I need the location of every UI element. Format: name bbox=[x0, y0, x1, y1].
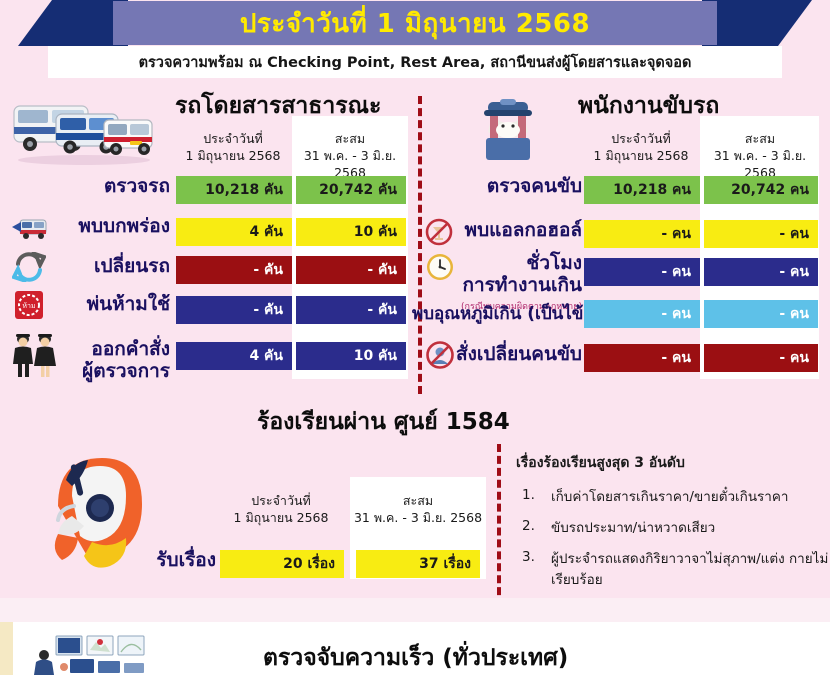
complaint-item-0-text: เก็บค่าโดยสารเกินราคา/ขายตั๋วเกินราคา bbox=[551, 487, 826, 508]
complaint-item-1-text: ขับรถประมาท/น่าหวาดเสียว bbox=[551, 518, 826, 539]
vertical-divider-complaint bbox=[497, 444, 501, 619]
banner-title: ประจำวันที่ 1 มิถุนายน 2568 bbox=[240, 3, 590, 44]
complaint-item-1-number: 2. bbox=[522, 518, 535, 534]
bus-col2-header: สะสม 31 พ.ค. - 3 มิ.ย. 2568 bbox=[290, 130, 410, 181]
bus-driver-icon bbox=[470, 96, 546, 166]
complaint-col1-header: ประจำวันที่ 1 มิถุนายน 2568 bbox=[218, 492, 344, 526]
bottom-left-accent-bar bbox=[0, 622, 13, 675]
driver-col1-header: ประจำวันที่ 1 มิถุนายน 2568 bbox=[582, 130, 700, 164]
top-complaints-title: เรื่องร้องเรียนสูงสุด 3 อันดับ bbox=[516, 452, 685, 474]
top-banner: ประจำวันที่ 1 มิถุนายน 2568 bbox=[0, 0, 830, 46]
bus-section-heading: รถโดยสารสาธารณะ bbox=[175, 88, 381, 124]
driver-row-label-1: พบแอลกอฮอล์ bbox=[430, 220, 582, 241]
driver-row-1-cumulative: - คน bbox=[704, 220, 818, 248]
bus-row-2-daily: - คัน bbox=[176, 256, 292, 284]
driver-row-label-3: พบอุณหภูมิเกิน (เป็นไข้) bbox=[412, 304, 582, 325]
monitoring-screens-icon bbox=[30, 630, 158, 675]
bus-row-3-daily: - คัน bbox=[176, 296, 292, 324]
speed-section-heading: ตรวจจับความเร็ว (ทั่วประเทศ) bbox=[263, 640, 568, 675]
complaint-cumulative: 37 เรื่อง bbox=[356, 550, 480, 578]
driver-row-4-daily: - คน bbox=[584, 344, 700, 372]
complaint-daily: 20 เรื่อง bbox=[220, 550, 344, 578]
driver-section-heading: พนักงานขับรถ bbox=[578, 88, 719, 124]
driver-row-0-cumulative: 20,742 คน bbox=[704, 176, 818, 204]
banner-right-wedge bbox=[702, 0, 812, 46]
bottom-pink-band bbox=[0, 598, 830, 622]
bus-row-4-cumulative: 10 คัน bbox=[296, 342, 406, 370]
driver-row-4-cumulative: - คน bbox=[704, 344, 818, 372]
driver-col2-header: สะสม 31 พ.ค. - 3 มิ.ย. 2568 bbox=[700, 130, 820, 181]
driver-row-2-cumulative: - คน bbox=[704, 258, 818, 286]
subtitle-text: ตรวจความพร้อม ณ Checking Point, Rest Are… bbox=[139, 51, 692, 74]
bus-row-label-2: เปลี่ยนรถ bbox=[20, 256, 170, 277]
driver-row-0-daily: 10,218 คน bbox=[584, 176, 700, 204]
bus-row-1-cumulative: 10 คัน bbox=[296, 218, 406, 246]
bus-cluster-icon bbox=[8, 96, 160, 166]
complaint-item-2-text: ผู้ประจำรถแสดงกิริยาวาจาไม่สุภาพ/แต่ง กา… bbox=[551, 549, 830, 591]
complaint-item-0-number: 1. bbox=[522, 487, 535, 503]
complaint-section-heading: ร้องเรียนผ่าน ศูนย์ 1584 bbox=[257, 404, 510, 440]
bus-row-0-cumulative: 20,742 คัน bbox=[296, 176, 406, 204]
bus-col1-header: ประจำวันที่ 1 มิถุนายน 2568 bbox=[174, 130, 292, 164]
driver-row-3-daily: - คน bbox=[584, 300, 700, 328]
complaint-col2-header: สะสม 31 พ.ค. - 3 มิ.ย. 2568 bbox=[352, 492, 484, 526]
banner-center-bar: ประจำวันที่ 1 มิถุนายน 2568 bbox=[113, 1, 717, 45]
vertical-divider-main bbox=[418, 96, 422, 394]
complaint-item-2-number: 3. bbox=[522, 549, 535, 565]
bus-row-2-cumulative: - คัน bbox=[296, 256, 406, 284]
bus-row-3-cumulative: - คัน bbox=[296, 296, 406, 324]
bus-row-1-daily: 4 คัน bbox=[176, 218, 292, 246]
driver-row-3-cumulative: - คน bbox=[704, 300, 818, 328]
driver-row-2-daily: - คน bbox=[584, 258, 700, 286]
bus-row-label-4: ออกคำสั่ง ผู้ตรวจการ bbox=[20, 338, 170, 382]
bus-row-0-daily: 10,218 คัน bbox=[176, 176, 292, 204]
complaint-row-label: รับเรื่อง bbox=[110, 550, 216, 571]
driver-row-label-4: สั่งเปลี่ยนคนขับ bbox=[430, 344, 582, 365]
infographic-page: ประจำวันที่ 1 มิถุนายน 2568 ตรวจความพร้อ… bbox=[0, 0, 830, 675]
bus-row-label-0: ตรวจรถ bbox=[20, 176, 170, 197]
bus-row-4-daily: 4 คัน bbox=[176, 342, 292, 370]
driver-row-label-0: ตรวจคนขับ bbox=[430, 176, 582, 197]
driver-row-1-daily: - คน bbox=[584, 220, 700, 248]
subtitle-bar: ตรวจความพร้อม ณ Checking Point, Rest Are… bbox=[48, 46, 782, 78]
bus-row-label-1: พบบกพร่อง bbox=[20, 216, 170, 237]
banner-left-wedge bbox=[18, 0, 128, 46]
bus-row-label-3: พ่นห้ามใช้ bbox=[20, 294, 170, 315]
